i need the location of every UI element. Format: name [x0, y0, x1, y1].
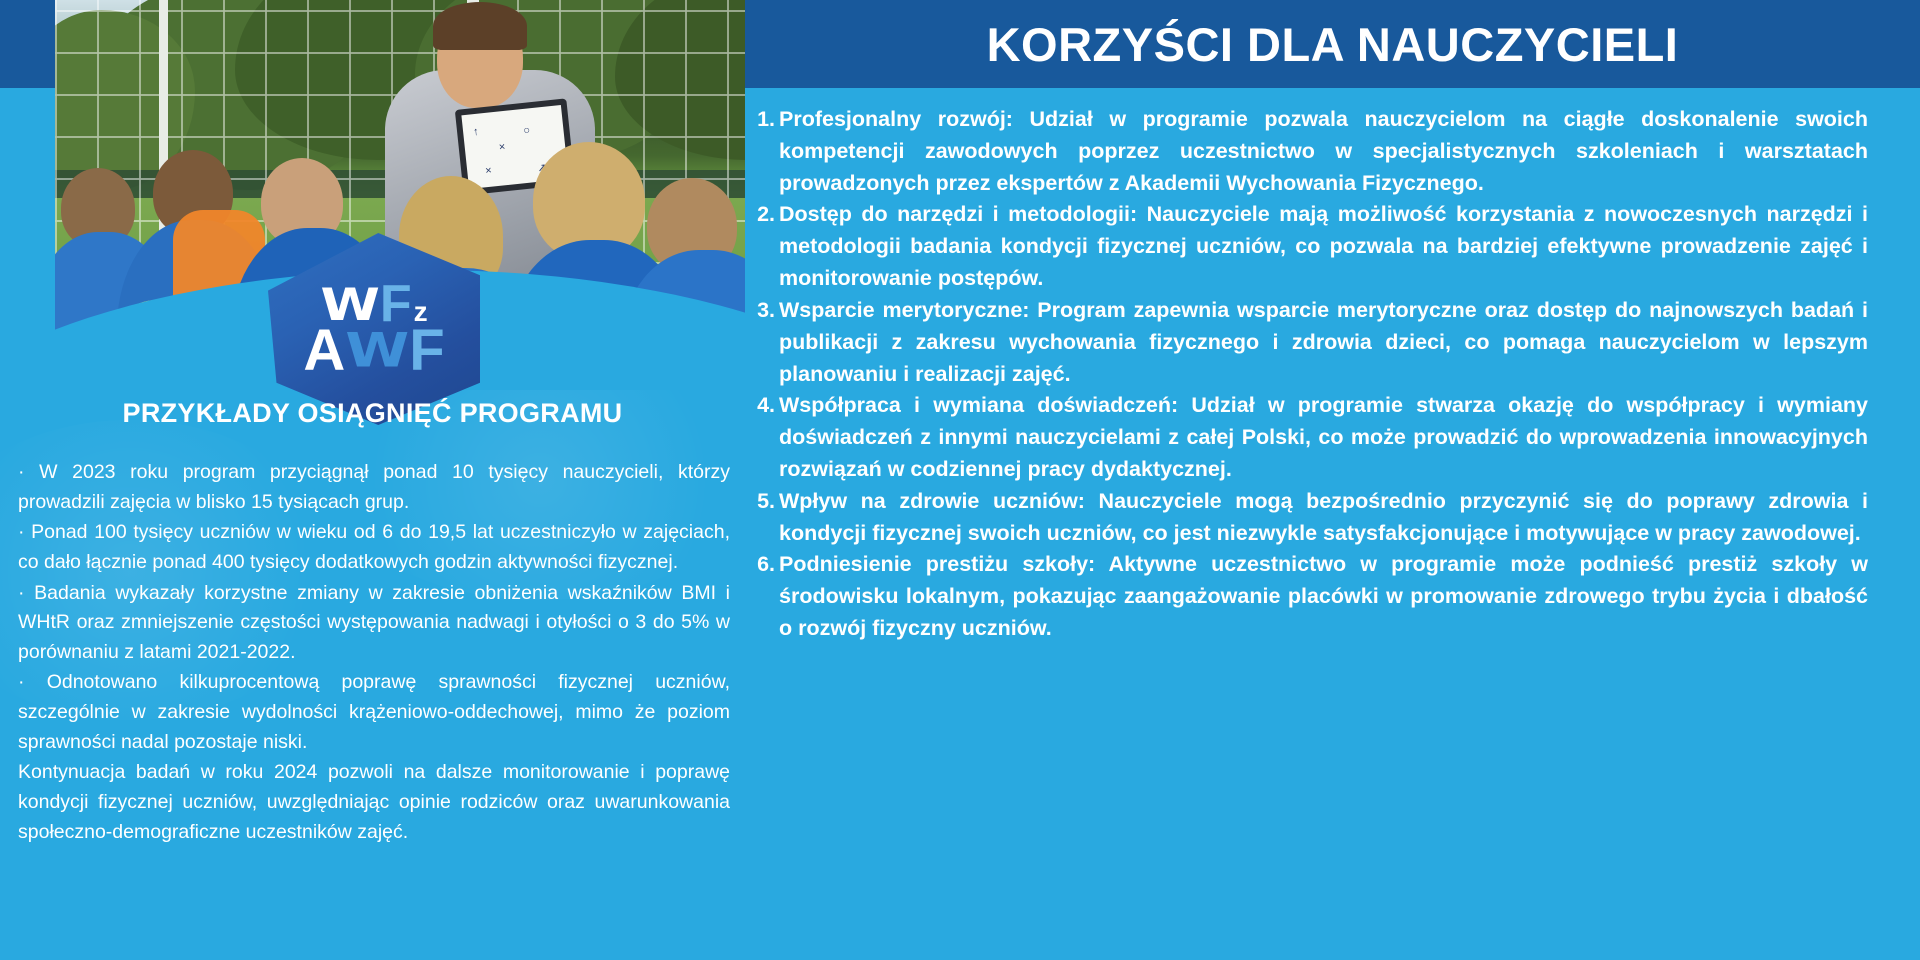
benefits-list: 1. Profesjonalny rozwój: Udział w progra… [745, 104, 1920, 950]
page-title-bar: KORZYŚCI DLA NAUCZYCIELI [745, 0, 1920, 88]
list-item: 1. Profesjonalny rozwój: Udział w progra… [745, 104, 1880, 199]
list-item-number: 1. [745, 104, 775, 136]
left-paragraph: · W 2023 roku program przyciągnął ponad … [18, 458, 730, 517]
logo-letter-w: W [320, 285, 380, 325]
list-item: 5. Wpływ na zdrowie uczniów: Nauczyciele… [745, 486, 1880, 550]
list-item-text: Podniesienie prestiżu szkoły: Aktywne uc… [779, 549, 1880, 644]
left-paragraph: · Badania wykazały korzystne zmiany w za… [18, 579, 730, 668]
list-item: 3. Wsparcie merytoryczne: Program zapewn… [745, 295, 1880, 390]
logo-letter-a: A [303, 325, 345, 377]
list-item-number: 4. [745, 390, 775, 422]
left-paragraph: · Odnotowano kilkuprocentową poprawę spr… [18, 668, 730, 757]
left-panel: ↑ × ○ × ↗ [0, 0, 745, 960]
list-item-text: Profesjonalny rozwój: Udział w programie… [779, 104, 1880, 199]
left-section-heading: PRZYKŁADY OSIĄGNIĘĆ PROGRAMU [0, 398, 745, 429]
list-item-number: 5. [745, 486, 775, 518]
list-item: 6. Podniesienie prestiżu szkoły: Aktywne… [745, 549, 1880, 644]
clipboard-marking: ↑ [473, 126, 480, 139]
list-item-text: Wsparcie merytoryczne: Program zapewnia … [779, 295, 1880, 390]
list-item: 4. Współpraca i wymiana doświadczeń: Udz… [745, 390, 1880, 485]
list-item-number: 6. [745, 549, 775, 581]
list-item-number: 2. [745, 199, 775, 231]
list-item-text: Współpraca i wymiana doświadczeń: Udział… [779, 390, 1880, 485]
list-item-text: Dostęp do narzędzi i metodologii: Nauczy… [779, 199, 1880, 294]
left-paragraph: Kontynuacja badań w roku 2024 pozwoli na… [18, 758, 730, 847]
slide-root: ↑ × ○ × ↗ [0, 0, 1920, 960]
list-item-text: Wpływ na zdrowie uczniów: Nauczyciele mo… [779, 486, 1880, 550]
coach-hair [433, 2, 527, 50]
left-paragraph: · Ponad 100 tysięcy uczniów w wieku od 6… [18, 518, 730, 577]
page-title: KORZYŚCI DLA NAUCZYCIELI [987, 17, 1679, 72]
logo-letter-w2: W [345, 328, 409, 371]
clipboard-marking: × [485, 165, 493, 178]
list-item: 2. Dostęp do narzędzi i metodologii: Nau… [745, 199, 1880, 294]
clipboard-marking: × [498, 141, 506, 154]
logo-letter-f: F [380, 281, 412, 328]
logo-letter-f2: F [409, 325, 444, 377]
clipboard-marking: ○ [523, 124, 531, 137]
left-body-text: · W 2023 roku program przyciągnął ponad … [18, 458, 730, 848]
list-item-number: 3. [745, 295, 775, 327]
